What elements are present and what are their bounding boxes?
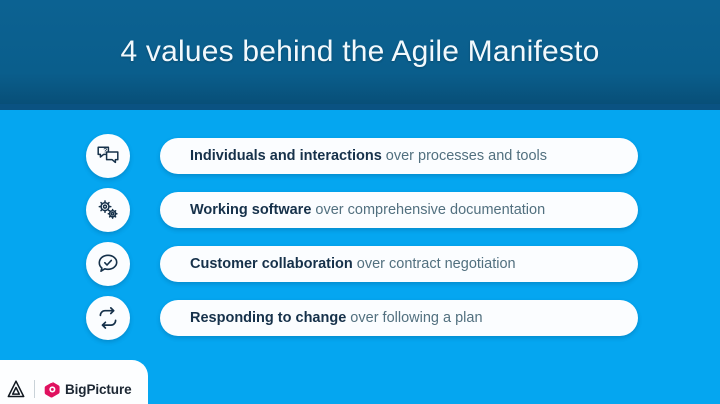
header-underline	[0, 104, 720, 110]
gears-icon	[86, 188, 130, 232]
value-text: Working software over comprehensive docu…	[190, 203, 545, 218]
page-title: 4 values behind the Agile Manifesto	[0, 0, 720, 104]
value-pill: Responding to change over following a pl…	[160, 300, 638, 336]
value-rest-text: over following a plan	[346, 310, 482, 326]
svg-text:?: ?	[103, 148, 107, 155]
value-text: Individuals and interactions over proces…	[190, 149, 547, 164]
speech-bubble-check-icon	[86, 242, 130, 286]
value-pill: Individuals and interactions over proces…	[160, 138, 638, 174]
values-list: ? Individuals and interactions over proc…	[0, 134, 720, 350]
footer-logo-panel: BigPicture	[0, 360, 148, 404]
value-pill: Customer collaboration over contract neg…	[160, 246, 638, 282]
value-rest-text: over processes and tools	[382, 148, 547, 164]
speech-bubbles-icon: ?	[86, 134, 130, 178]
value-bold-text: Working software	[190, 202, 311, 218]
bigpicture-wordmark: BigPicture	[65, 382, 132, 397]
value-bold-text: Individuals and interactions	[190, 148, 382, 164]
value-rest-text: over contract negotiation	[353, 256, 516, 272]
value-text: Customer collaboration over contract neg…	[190, 257, 516, 272]
value-pill: Working software over comprehensive docu…	[160, 192, 638, 228]
list-item: Responding to change over following a pl…	[0, 296, 720, 340]
sync-arrows-icon	[86, 296, 130, 340]
value-rest-text: over comprehensive documentation	[311, 202, 545, 218]
list-item: Customer collaboration over contract neg…	[0, 242, 720, 286]
value-text: Responding to change over following a pl…	[190, 311, 483, 326]
bigpicture-hexagon-logo-icon	[44, 381, 61, 398]
value-bold-text: Responding to change	[190, 310, 346, 326]
logo-divider	[34, 380, 35, 398]
value-bold-text: Customer collaboration	[190, 256, 353, 272]
appfire-a-logo-icon	[6, 379, 26, 399]
list-item: ? Individuals and interactions over proc…	[0, 134, 720, 178]
list-item: Working software over comprehensive docu…	[0, 188, 720, 232]
slide-canvas: 4 values behind the Agile Manifesto ? In…	[0, 0, 720, 404]
